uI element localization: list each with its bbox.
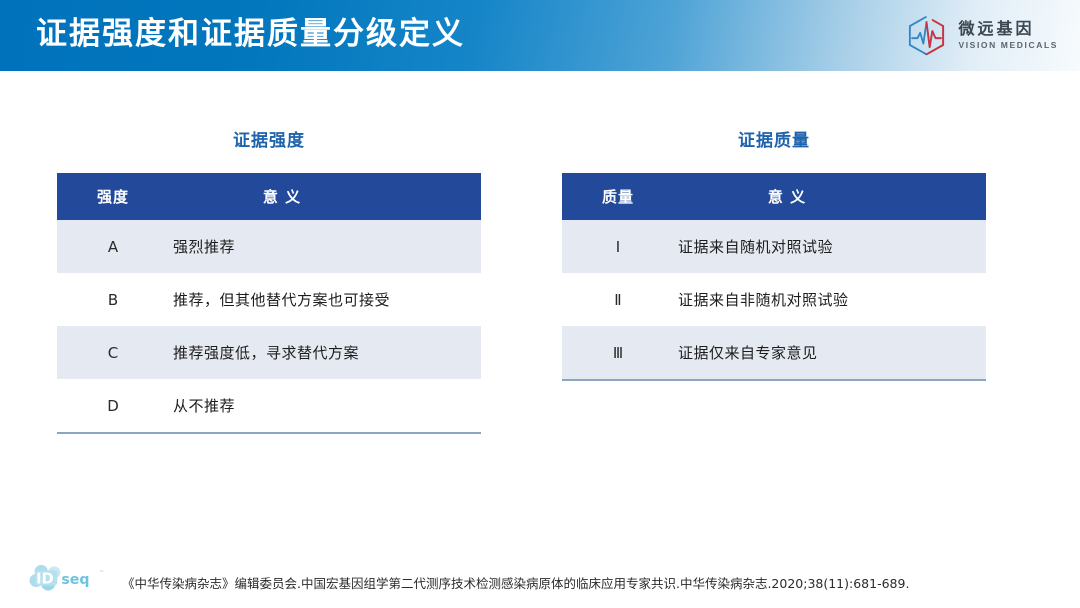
cell-meaning: 推荐，但其他替代方案也可接受 bbox=[169, 273, 481, 326]
column-header-key: 质量 bbox=[562, 173, 674, 220]
table-row: Ⅲ 证据仅来自专家意见 bbox=[562, 326, 986, 380]
table-header-row: 质量 意 义 bbox=[562, 173, 986, 220]
section-title-quality: 证据质量 bbox=[562, 126, 986, 151]
page-title: 证据强度和证据质量分级定义 bbox=[36, 12, 465, 56]
cell-meaning: 强烈推荐 bbox=[169, 220, 481, 273]
table-row: A 强烈推荐 bbox=[57, 220, 481, 273]
cell-meaning: 推荐强度低，寻求替代方案 bbox=[169, 326, 481, 379]
table-row: Ⅱ 证据来自非随机对照试验 bbox=[562, 273, 986, 326]
cell-key: C bbox=[57, 326, 169, 379]
brand-name-cn: 微远基因 bbox=[958, 21, 1058, 37]
column-header-meaning: 意 义 bbox=[169, 173, 481, 220]
cell-key: Ⅰ bbox=[562, 220, 674, 273]
evidence-quality-table: 质量 意 义 Ⅰ 证据来自随机对照试验 Ⅱ 证据来自非随机对照试验 Ⅲ 证据仅来… bbox=[562, 173, 986, 381]
cell-meaning: 证据来自非随机对照试验 bbox=[674, 273, 986, 326]
evidence-strength-section: 证据强度 强度 意 义 A 强烈推荐 B 推荐，但其他替代方案也可接受 C 推荐… bbox=[57, 126, 481, 434]
svg-text:seq: seq bbox=[61, 572, 89, 588]
hexagon-ecg-icon bbox=[904, 13, 949, 58]
table-row: B 推荐，但其他替代方案也可接受 bbox=[57, 273, 481, 326]
cell-meaning: 证据来自随机对照试验 bbox=[674, 220, 986, 273]
column-header-meaning: 意 义 bbox=[674, 173, 986, 220]
cell-key: Ⅲ bbox=[562, 326, 674, 380]
citation-text: 《中华传染病杂志》编辑委员会.中国宏基因组学第二代测序技术检测感染病原体的临床应… bbox=[122, 573, 909, 592]
evidence-quality-section: 证据质量 质量 意 义 Ⅰ 证据来自随机对照试验 Ⅱ 证据来自非随机对照试验 Ⅲ… bbox=[562, 126, 986, 381]
table-header-row: 强度 意 义 bbox=[57, 173, 481, 220]
table-row: D 从不推荐 bbox=[57, 379, 481, 433]
footer: ID seq ™ 《中华传染病杂志》编辑委员会.中国宏基因组学第二代测序技术检测… bbox=[0, 552, 1080, 608]
brand-logo: 微远基因 VISION MEDICALS bbox=[904, 13, 1058, 58]
table-row: C 推荐强度低，寻求替代方案 bbox=[57, 326, 481, 379]
section-title-strength: 证据强度 bbox=[57, 126, 481, 151]
cell-key: Ⅱ bbox=[562, 273, 674, 326]
column-header-key: 强度 bbox=[57, 173, 169, 220]
cell-key: D bbox=[57, 379, 169, 433]
cell-key: A bbox=[57, 220, 169, 273]
svg-text:™: ™ bbox=[99, 569, 105, 576]
brand-name-en: VISION MEDICALS bbox=[958, 41, 1058, 50]
table-row: Ⅰ 证据来自随机对照试验 bbox=[562, 220, 986, 273]
cell-key: B bbox=[57, 273, 169, 326]
cell-meaning: 从不推荐 bbox=[169, 379, 481, 433]
cell-meaning: 证据仅来自专家意见 bbox=[674, 326, 986, 380]
evidence-strength-table: 强度 意 义 A 强烈推荐 B 推荐，但其他替代方案也可接受 C 推荐强度低，寻… bbox=[57, 173, 481, 434]
idseq-logo-icon: ID seq ™ bbox=[28, 562, 124, 596]
svg-text:ID: ID bbox=[36, 571, 54, 588]
